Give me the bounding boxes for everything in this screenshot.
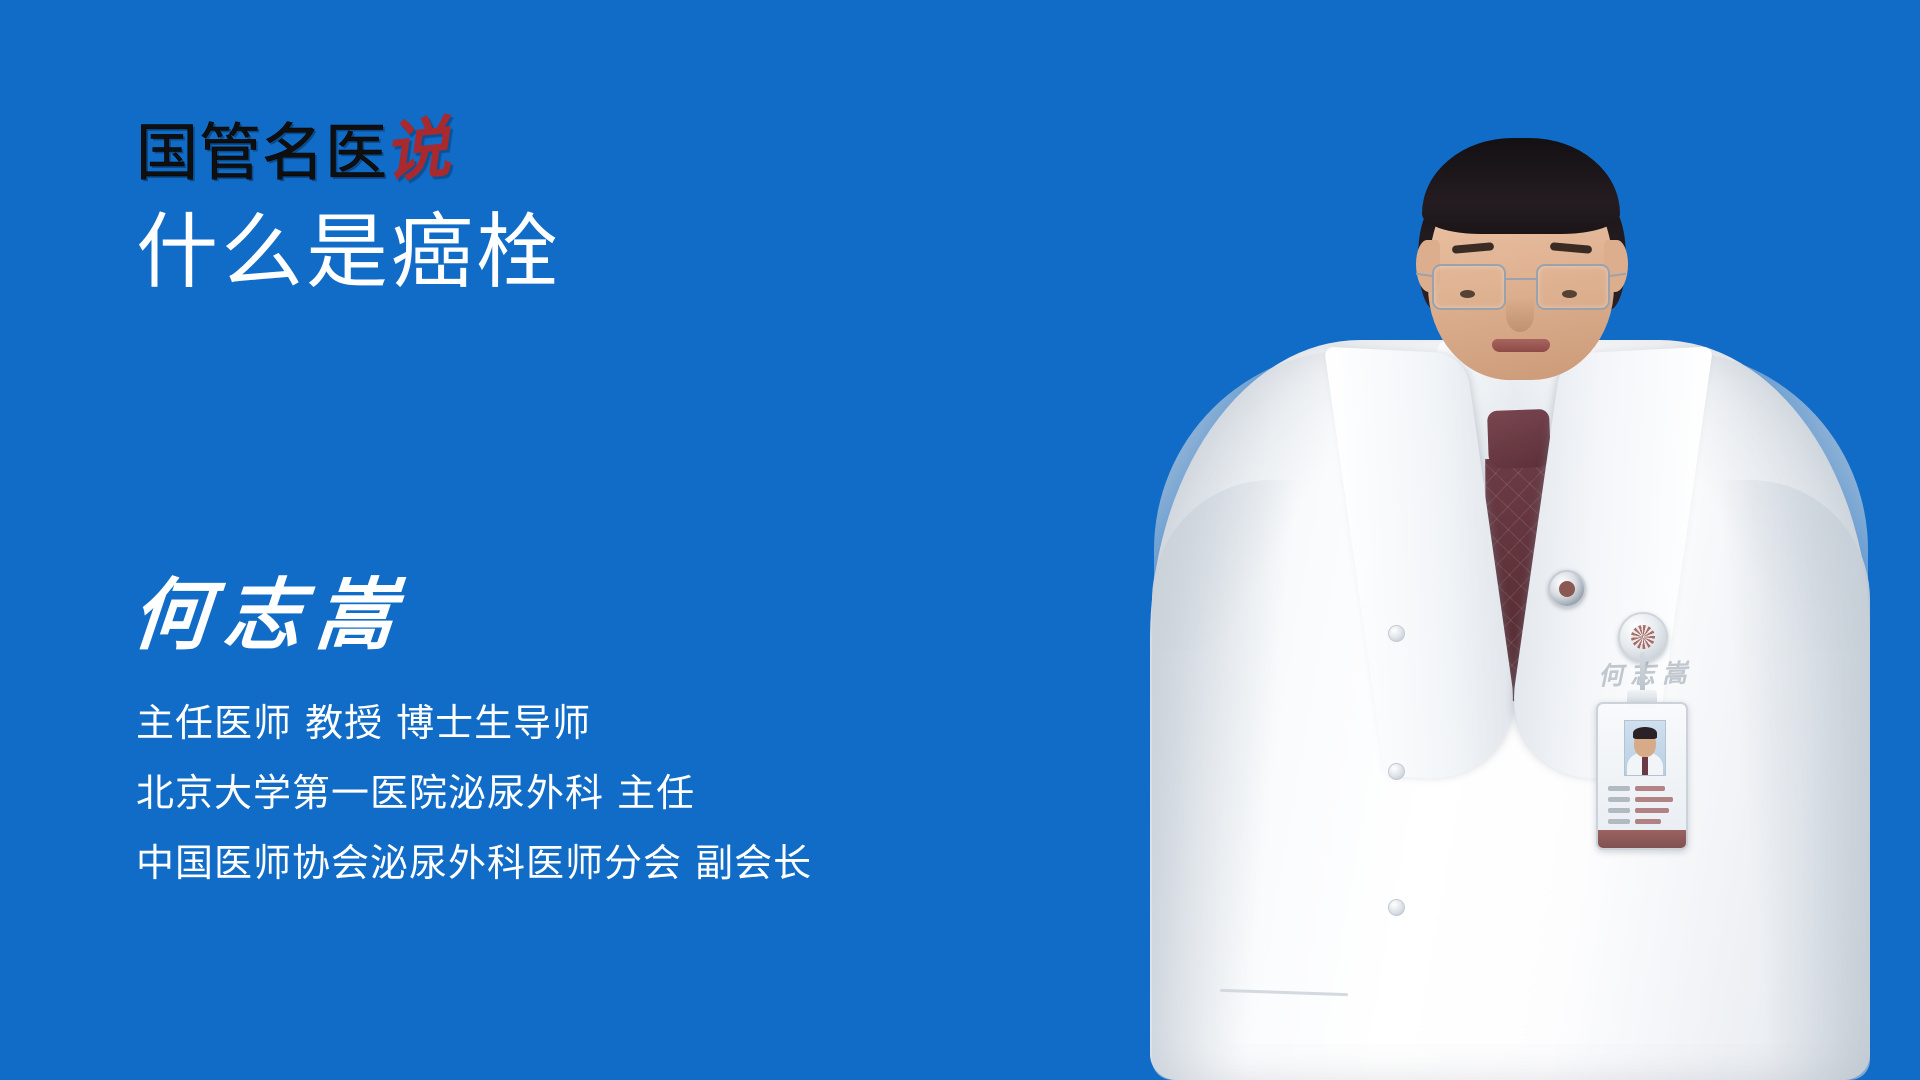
id-badge-line bbox=[1608, 797, 1680, 802]
credential-line-2: 北京大学第一医院泌尿外科 主任 bbox=[136, 770, 812, 816]
nose bbox=[1506, 298, 1534, 332]
id-photo-tie bbox=[1642, 757, 1648, 775]
credential-line-3: 中国医师协会泌尿外科医师分会 副会长 bbox=[136, 840, 812, 886]
id-badge-value bbox=[1635, 786, 1665, 791]
coat-arm-right bbox=[1710, 480, 1870, 1080]
program-logo-base-text: 国管名医 bbox=[136, 122, 388, 184]
id-badge-photo bbox=[1624, 720, 1666, 776]
hair-top bbox=[1422, 138, 1620, 234]
credential-line-1: 主任医师 教授 博士生导师 bbox=[136, 700, 812, 746]
id-badge-value bbox=[1635, 819, 1661, 824]
id-badge-line bbox=[1608, 819, 1680, 824]
coat-embroidered-name: 何志嵩 bbox=[1598, 659, 1695, 689]
coat-button bbox=[1388, 625, 1405, 642]
id-badge-value bbox=[1635, 808, 1669, 813]
eyeglass-bridge bbox=[1506, 278, 1536, 280]
coat-button bbox=[1388, 899, 1405, 916]
coat-button bbox=[1388, 763, 1405, 780]
program-logo: 国管名医 说 bbox=[136, 112, 450, 184]
lapel-pin-icon bbox=[1548, 570, 1586, 608]
id-badge-footer bbox=[1598, 830, 1686, 848]
mouth bbox=[1492, 339, 1550, 352]
eyeglass-lens-left bbox=[1432, 264, 1506, 310]
id-badge-key bbox=[1608, 786, 1630, 791]
id-badge-value bbox=[1635, 797, 1673, 802]
necktie-knot bbox=[1487, 409, 1551, 469]
id-badge-key bbox=[1608, 797, 1630, 802]
title-card-slide: 国管名医 说 什么是癌栓 何志嵩 主任医师 教授 博士生导师 北京大学第一医院泌… bbox=[0, 0, 1920, 1080]
eyeglass-lens-right bbox=[1536, 264, 1610, 310]
doctor-portrait: 何志嵩 bbox=[1100, 0, 1920, 1080]
speaker-credentials: 主任医师 教授 博士生导师 北京大学第一医院泌尿外科 主任 中国医师协会泌尿外科… bbox=[136, 700, 812, 886]
id-photo-hair bbox=[1633, 727, 1657, 739]
speaker-name: 何志嵩 bbox=[128, 572, 412, 660]
text-column: 国管名医 说 什么是癌栓 何志嵩 主任医师 教授 博士生导师 北京大学第一医院泌… bbox=[0, 0, 1100, 1080]
id-badge-text-lines bbox=[1608, 786, 1680, 830]
id-badge-key bbox=[1608, 808, 1630, 813]
episode-title: 什么是癌栓 bbox=[136, 206, 561, 300]
program-logo-accent-text: 说 bbox=[381, 117, 453, 184]
id-badge bbox=[1596, 702, 1688, 850]
badge-reel-cord bbox=[1640, 652, 1645, 694]
id-badge-line bbox=[1608, 808, 1680, 813]
id-badge-key bbox=[1608, 819, 1630, 824]
id-badge-line bbox=[1608, 786, 1680, 791]
